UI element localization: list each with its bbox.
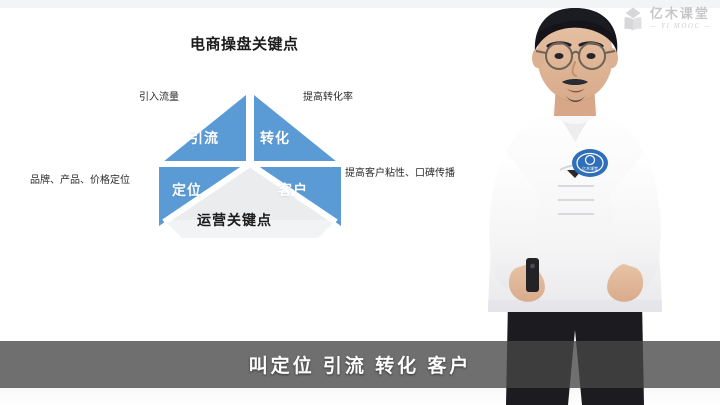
hexagon-diagram: 引流 转化 定位 客户 运营关键点 [150,92,350,242]
segment-label-traffic: 引流 [189,128,219,148]
video-frame: 亿木课堂 — YI MOOC — 电商操盘关键点 [0,0,720,405]
subtitle-text: 叫定位 引流 转化 客户 [249,351,472,378]
segment-label-customer: 客户 [278,180,308,200]
presenter-clicker [526,258,539,292]
slide-title: 电商操盘关键点 [190,33,299,54]
presenter-badge: 亿木课堂 [572,149,608,177]
callout-positioning: 品牌、产品、价格定位 [30,171,130,186]
svg-text:亿木课堂: 亿木课堂 [582,165,598,171]
callout-conversion: 提高转化率 [303,88,353,103]
subtitle-bar: 叫定位 引流 转化 客户 [0,341,720,388]
callout-traffic: 引入流量 [139,88,179,103]
segment-label-conversion: 转化 [260,128,290,148]
segment-label-positioning: 定位 [172,180,202,200]
diagram-center-label: 运营关键点 [197,210,272,230]
